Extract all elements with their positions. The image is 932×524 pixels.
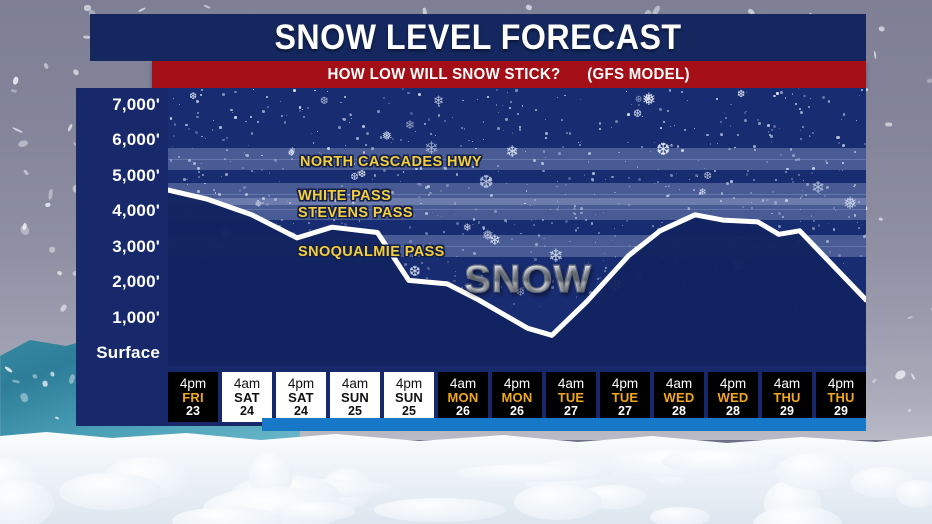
x-axis-day: MON (502, 391, 533, 405)
x-axis-date: 26 (456, 405, 470, 418)
snow-mound (775, 453, 855, 490)
x-axis-date: 25 (348, 405, 362, 418)
snow-mound (456, 464, 611, 482)
x-axis-day: SAT (234, 391, 260, 405)
x-axis-day: THU (773, 391, 800, 405)
x-axis-time-cell[interactable]: 4amTUE27 (546, 372, 596, 422)
x-axis-time: 4pm (720, 377, 746, 391)
pass-label: STEVENS PASS (298, 205, 413, 221)
x-axis-date: 27 (618, 405, 632, 418)
snow-mound (374, 498, 506, 522)
x-axis-date: 29 (780, 405, 794, 418)
chart-container: 7,000'6,000'5,000'4,000'3,000'2,000'1,00… (76, 88, 866, 426)
forecast-graphic-panel: SNOW LEVEL FORECAST HOW LOW WILL SNOW ST… (76, 14, 866, 426)
page-title: SNOW LEVEL FORECAST (121, 14, 835, 61)
y-tick-label: 4,000' (112, 201, 160, 221)
x-axis-date: 26 (510, 405, 524, 418)
snow-mound (514, 484, 603, 520)
x-axis-date: 23 (186, 405, 200, 418)
x-axis-time-cell[interactable]: 4amMON26 (438, 372, 488, 422)
y-tick-label: 1,000' (112, 308, 160, 328)
x-axis-time: 4pm (612, 377, 638, 391)
snow-level-line-chart (168, 88, 866, 366)
x-axis-time-cell[interactable]: 4pmMON26 (492, 372, 542, 422)
x-axis-date: 29 (834, 405, 848, 418)
y-tick-label: 7,000' (112, 95, 160, 115)
snow-annotation-label: SNOW (464, 258, 592, 302)
x-axis-time: 4pm (828, 377, 854, 391)
x-axis-time: 4am (558, 377, 584, 391)
snow-mound (650, 507, 710, 524)
y-tick-label: Surface (96, 343, 160, 363)
x-axis-time: 4am (666, 377, 692, 391)
pass-label: WHITE PASS (298, 188, 391, 204)
x-axis-time-cell[interactable]: 4amWED28 (654, 372, 704, 422)
x-axis-time-cell[interactable]: 4pmSAT24 (276, 372, 326, 422)
x-axis-time: 4pm (396, 377, 422, 391)
bottom-accent-bar (262, 418, 866, 431)
y-tick-label: 5,000' (112, 166, 160, 186)
x-axis-time: 4am (450, 377, 476, 391)
x-axis-date: 27 (564, 405, 578, 418)
x-axis-time-cell[interactable]: 4amSUN25 (330, 372, 380, 422)
x-axis-date: 24 (240, 405, 254, 418)
pass-label: NORTH CASCADES HWY (300, 154, 482, 170)
y-tick-label: 6,000' (112, 130, 160, 150)
snow-mound (275, 502, 356, 521)
x-axis-time-cell[interactable]: 4pmTHU29 (816, 372, 866, 422)
x-axis-day: TUE (558, 391, 585, 405)
x-axis-day: FRI (182, 391, 204, 405)
x-axis-time: 4pm (180, 377, 206, 391)
y-axis-labels: 7,000'6,000'5,000'4,000'3,000'2,000'1,00… (76, 88, 168, 382)
x-axis-time: 4pm (288, 377, 314, 391)
x-axis-time-cell[interactable]: 4amSAT24 (222, 372, 272, 422)
background-snowflake (886, 122, 893, 126)
x-axis-time-cell[interactable]: 4amTHU29 (762, 372, 812, 422)
x-axis-time-cell[interactable]: 4pmTUE27 (600, 372, 650, 422)
x-axis-day: SUN (395, 391, 423, 405)
pass-label: SNOQUALMIE PASS (298, 244, 445, 260)
background-snowflake (84, 5, 91, 11)
x-axis-time: 4pm (504, 377, 530, 391)
subtitle-text: HOW LOW WILL SNOW STICK? (GFS MODEL) (328, 66, 690, 84)
x-axis-day: WED (664, 391, 695, 405)
x-axis-time: 4am (234, 377, 260, 391)
x-axis-day: TUE (612, 391, 639, 405)
x-axis-time: 4am (342, 377, 368, 391)
y-tick-label: 2,000' (112, 272, 160, 292)
snow-mound (896, 480, 932, 508)
x-axis-time: 4am (774, 377, 800, 391)
x-axis-time-labels: 4pmFRI234amSAT244pmSAT244amSUN254pmSUN25… (168, 372, 866, 422)
x-axis-day: THU (827, 391, 854, 405)
x-axis-date: 24 (294, 405, 308, 418)
x-axis-time-cell[interactable]: 4pmWED28 (708, 372, 758, 422)
x-axis-time-cell[interactable]: 4pmSUN25 (384, 372, 434, 422)
x-axis-time-cell[interactable]: 4pmFRI23 (168, 372, 218, 422)
x-axis-day: WED (718, 391, 749, 405)
x-axis-day: SUN (341, 391, 369, 405)
snow-mound (661, 449, 789, 474)
y-tick-label: 3,000' (112, 237, 160, 257)
subtitle-bar: HOW LOW WILL SNOW STICK? (GFS MODEL) (152, 61, 866, 88)
x-axis-date: 25 (402, 405, 416, 418)
x-axis-day: MON (448, 391, 479, 405)
x-axis-date: 28 (672, 405, 686, 418)
x-axis-day: SAT (288, 391, 314, 405)
title-bar: SNOW LEVEL FORECAST (90, 14, 866, 61)
snow-mound (59, 473, 161, 510)
x-axis-date: 28 (726, 405, 740, 418)
plot-area: ❄❅❆❄❄❄❄❅❅❆❅❄❆❄❅❆❄❆❆❄❆❆❄❄❆❅❄❄❄❆❄❆❆❆ NORTH… (168, 88, 866, 366)
